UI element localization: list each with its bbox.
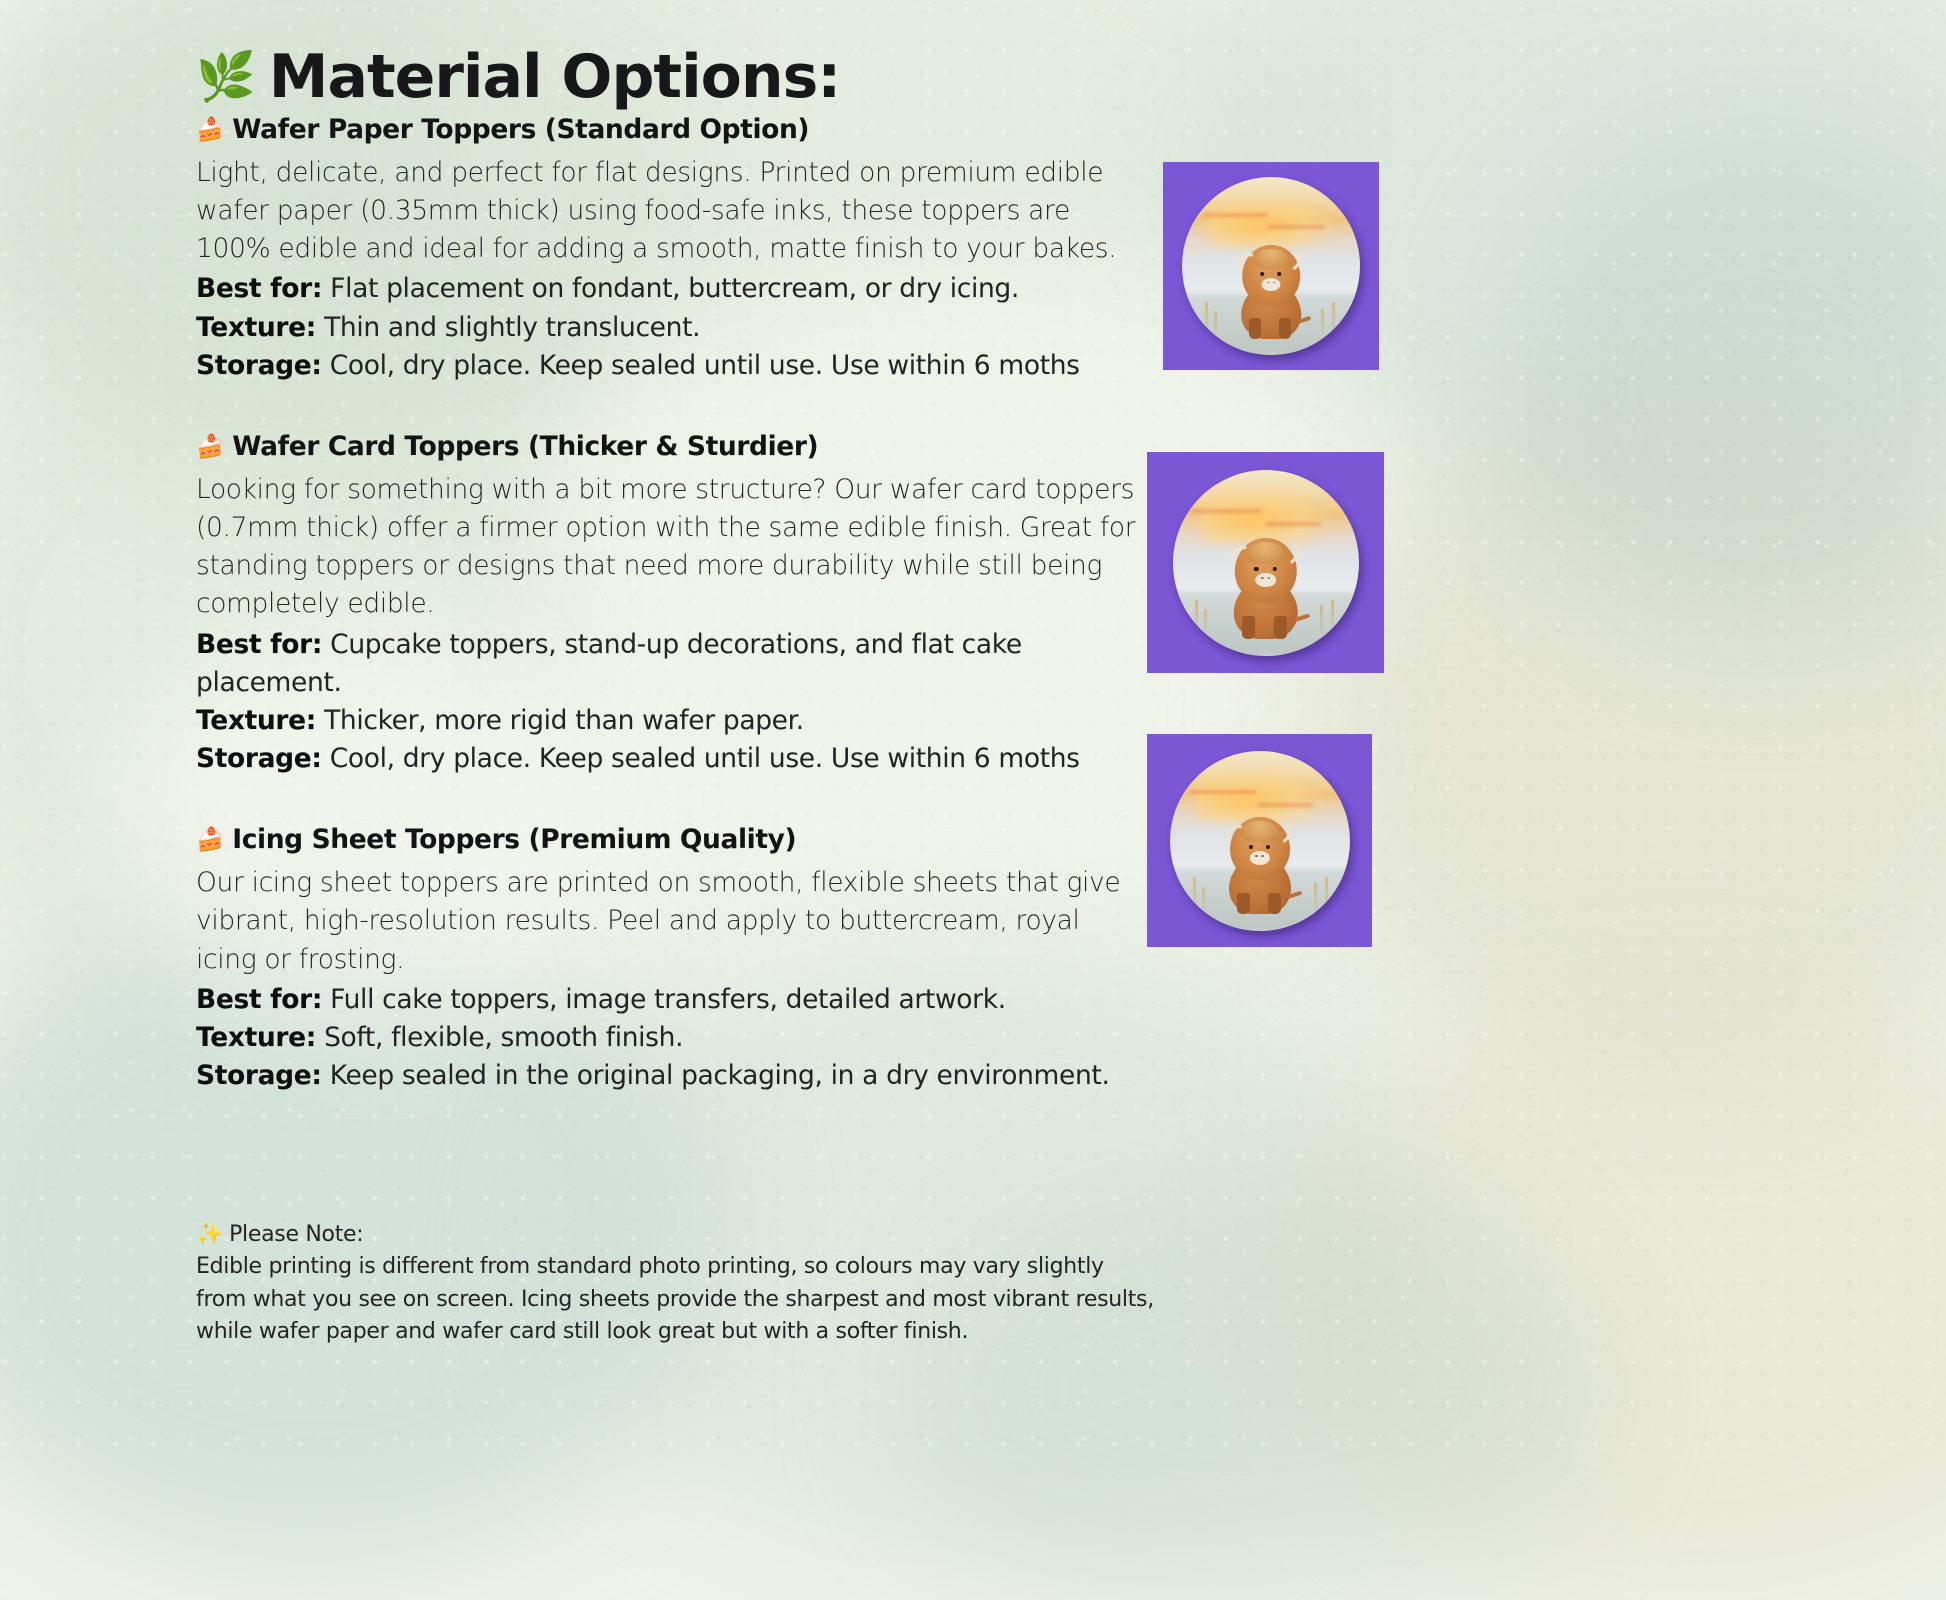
- storage-line: Storage: Cool, dry place. Keep sealed un…: [196, 740, 1146, 778]
- texture-line: Texture: Thin and slightly translucent.: [196, 309, 1146, 347]
- section-body: Looking for something with a bit more st…: [196, 471, 1146, 624]
- section-body: Light, delicate, and perfect for flat de…: [196, 154, 1146, 268]
- section-heading: 🍰 Wafer Paper Toppers (Standard Option): [196, 114, 1146, 145]
- cloud-streak: [1266, 522, 1322, 526]
- texture-value: Thin and slightly translucent.: [324, 312, 700, 343]
- page-title: 🌿 Material Options:: [196, 42, 840, 112]
- section-heading-text: Icing Sheet Toppers (Premium Quality): [232, 824, 796, 855]
- grass-blade: [1331, 600, 1334, 633]
- section-body: Our icing sheet toppers are printed on s…: [196, 864, 1146, 978]
- cloud-streak: [1267, 225, 1324, 229]
- product-image-icing-sheet[interactable]: [1147, 734, 1372, 947]
- topper-disc: [1182, 177, 1360, 355]
- section-heading-text: Wafer Card Toppers (Thicker & Sturdier): [232, 431, 818, 462]
- storage-line: Storage: Keep sealed in the original pac…: [196, 1057, 1146, 1095]
- section-heading: 🍰 Icing Sheet Toppers (Premium Quality): [196, 824, 1146, 855]
- best-for-line: Best for: Cupcake toppers, stand-up deco…: [196, 626, 1146, 702]
- storage-label: Storage:: [196, 743, 322, 774]
- texture-line: Texture: Soft, flexible, smooth finish.: [196, 1019, 1146, 1057]
- section-icing-sheet: 🍰 Icing Sheet Toppers (Premium Quality) …: [196, 824, 1146, 1095]
- storage-line: Storage: Cool, dry place. Keep sealed un…: [196, 347, 1146, 385]
- section-wafer-card: 🍰 Wafer Card Toppers (Thicker & Sturdier…: [196, 431, 1146, 778]
- section-wafer-paper: 🍰 Wafer Paper Toppers (Standard Option) …: [196, 114, 1146, 385]
- grass-blade: [1195, 600, 1198, 633]
- best-for-label: Best for:: [196, 273, 322, 304]
- section-heading-text: Wafer Paper Toppers (Standard Option): [232, 114, 809, 145]
- grass-blade: [1214, 311, 1217, 334]
- best-for-value: Flat placement on fondant, buttercream, …: [330, 273, 1019, 304]
- highland-cow-illustration: [1214, 527, 1318, 639]
- highland-cow-illustration: [1223, 235, 1319, 339]
- texture-line: Texture: Thicker, more rigid than wafer …: [196, 702, 1146, 740]
- product-image-wafer-paper[interactable]: [1163, 162, 1379, 370]
- best-for-line: Best for: Flat placement on fondant, but…: [196, 270, 1146, 308]
- note-title-text: Please Note:: [229, 1222, 363, 1247]
- grass-blade: [1205, 302, 1208, 334]
- cake-slice-icon: 🍰: [196, 826, 224, 853]
- cake-slice-icon: 🍰: [196, 116, 224, 143]
- product-image-wafer-card[interactable]: [1147, 452, 1384, 673]
- topper-disc: [1173, 470, 1359, 656]
- texture-value: Thicker, more rigid than wafer paper.: [324, 705, 804, 736]
- grass-blade: [1332, 302, 1335, 334]
- best-for-label: Best for:: [196, 984, 322, 1015]
- grass-blade: [1314, 882, 1317, 909]
- storage-value: Cool, dry place. Keep sealed until use. …: [330, 350, 1080, 381]
- section-heading: 🍰 Wafer Card Toppers (Thicker & Sturdier…: [196, 431, 1146, 462]
- grass-blade: [1321, 309, 1324, 334]
- page-title-text: Material Options:: [269, 42, 841, 112]
- grass-blade: [1320, 605, 1323, 633]
- storage-value: Keep sealed in the original packaging, i…: [330, 1060, 1110, 1091]
- topper-disc: [1170, 751, 1350, 931]
- storage-value: Cool, dry place. Keep sealed until use. …: [330, 743, 1080, 774]
- best-for-line: Best for: Full cake toppers, image trans…: [196, 981, 1146, 1019]
- storage-label: Storage:: [196, 350, 322, 381]
- note-body: Edible printing is different from standa…: [196, 1251, 1156, 1349]
- grass-blade: [1325, 877, 1328, 909]
- cloud-streak: [1191, 509, 1262, 513]
- note-title: ✨ Please Note:: [196, 1222, 1156, 1247]
- please-note-block: ✨ Please Note: Edible printing is differ…: [196, 1222, 1156, 1349]
- cloud-streak: [1203, 213, 1267, 217]
- texture-label: Texture:: [196, 1022, 316, 1053]
- material-options-list: 🍰 Wafer Paper Toppers (Standard Option) …: [196, 112, 1146, 1125]
- grass-blade: [1193, 877, 1196, 909]
- storage-label: Storage:: [196, 1060, 322, 1091]
- texture-label: Texture:: [196, 312, 316, 343]
- best-for-value: Full cake toppers, image transfers, deta…: [330, 984, 1006, 1015]
- texture-label: Texture:: [196, 705, 316, 736]
- highland-cow-illustration: [1210, 806, 1310, 914]
- leaf-icon: 🌿: [196, 53, 255, 101]
- cloud-streak: [1189, 790, 1256, 794]
- grass-blade: [1204, 609, 1207, 633]
- cake-slice-icon: 🍰: [196, 433, 224, 460]
- best-for-label: Best for:: [196, 629, 322, 660]
- texture-value: Soft, flexible, smooth finish.: [324, 1022, 683, 1053]
- grass-blade: [1202, 887, 1205, 909]
- sparkles-icon: ✨: [196, 1222, 223, 1247]
